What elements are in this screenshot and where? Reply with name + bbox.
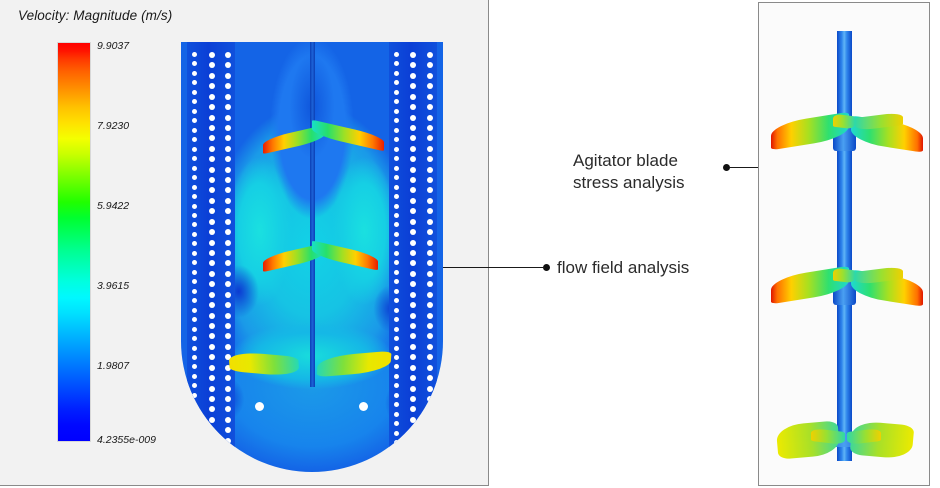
coil-dot (225, 344, 231, 350)
coil-dot (394, 194, 399, 199)
coil-dot (225, 438, 231, 444)
coil-dot (394, 440, 399, 445)
coil-dot (225, 333, 231, 339)
coil-dot (225, 177, 231, 183)
coil-dot (192, 128, 197, 133)
colorbar-tick-2: 5.9422 (97, 200, 129, 212)
coil-dot (427, 198, 433, 204)
coil-dot (394, 336, 399, 341)
coil-dot (427, 365, 433, 371)
coil-dot (394, 402, 399, 407)
coil-dot (394, 185, 399, 190)
coil-dot (225, 156, 231, 162)
agitator-shaft (310, 42, 315, 387)
coil-dot (192, 156, 197, 161)
coil-dot (192, 260, 197, 265)
coil-dot (410, 125, 416, 131)
coil-dot (394, 431, 399, 436)
coil-dot (192, 185, 197, 190)
coil-dot (410, 94, 416, 100)
coil-dot-column-left-3 (224, 52, 231, 465)
coil-dot (209, 406, 215, 412)
coil-dot (427, 417, 433, 423)
coil-dot (209, 177, 215, 183)
coil-dot (410, 104, 416, 110)
coil-dot (209, 396, 215, 402)
stress-model-panel (758, 2, 930, 486)
coil-dot (192, 109, 197, 114)
coil-dot (427, 333, 433, 339)
coil-dot (427, 187, 433, 193)
coil-dot (394, 450, 399, 455)
coil-dot (209, 333, 215, 339)
coil-dot (209, 417, 215, 423)
coil-dot (410, 177, 416, 183)
tank-body (181, 42, 443, 472)
coil-dot (225, 396, 231, 402)
coil-dot (192, 137, 197, 142)
coil-dot (225, 198, 231, 204)
coil-dot-column-right-1 (426, 52, 433, 465)
coil-dot (427, 458, 433, 464)
coil-dot (209, 281, 215, 287)
coil-dot (192, 222, 197, 227)
coil-dot (427, 208, 433, 214)
coil-dot (394, 393, 399, 398)
nozzle-left (255, 402, 264, 411)
coil-dot (410, 229, 416, 235)
coil-dot (225, 167, 231, 173)
coil-dot (394, 251, 399, 256)
colorbar-tick-4: 1.9807 (97, 360, 129, 372)
coil-dot (192, 175, 197, 180)
coil-dot (209, 344, 215, 350)
coil-dot (394, 289, 399, 294)
coil-dot (192, 71, 197, 76)
coil-dot (394, 308, 399, 313)
coil-dot (192, 270, 197, 275)
coil-dot (410, 417, 416, 423)
colorbar-tick-1: 7.9230 (97, 120, 129, 132)
coil-dot (394, 80, 399, 85)
coil-dot (225, 187, 231, 193)
coil-dot-column-right-2 (409, 52, 416, 465)
coil-dot (427, 52, 433, 58)
coil-dot (410, 83, 416, 89)
coil-dot (427, 323, 433, 329)
coil-dot (394, 241, 399, 246)
coil-dot (209, 229, 215, 235)
coil-dot (209, 448, 215, 454)
coil-dot (410, 281, 416, 287)
coil-dot (410, 208, 416, 214)
coil-dot (394, 260, 399, 265)
coil-dot (410, 438, 416, 444)
coil-dot (192, 204, 197, 209)
coil-dot (225, 313, 231, 319)
coil-dot (427, 344, 433, 350)
coil-dot (394, 270, 399, 275)
coil-dot (427, 281, 433, 287)
coil-dot (394, 52, 399, 57)
colorbar-gradient (57, 42, 91, 442)
coil-dot (209, 187, 215, 193)
coil-dot (410, 396, 416, 402)
velocity-colorbar: 9.9037 7.9230 5.9422 3.9615 1.9807 4.235… (57, 42, 91, 442)
coil-dot (394, 374, 399, 379)
coil-dot (209, 115, 215, 121)
coil-dot (427, 271, 433, 277)
coil-dot (209, 354, 215, 360)
coil-dot (192, 317, 197, 322)
coil-dot (410, 458, 416, 464)
coil-dot (209, 83, 215, 89)
coil-dot (225, 260, 231, 266)
coil-dot (427, 375, 433, 381)
cfd-panel-title: Velocity: Magnitude (m/s) (18, 8, 172, 23)
coil-dot (225, 104, 231, 110)
coil-dot (427, 302, 433, 308)
coil-dot (209, 198, 215, 204)
coil-dot (427, 83, 433, 89)
coil-dot (427, 125, 433, 131)
coil-dot (192, 147, 197, 152)
coil-dot (192, 431, 197, 436)
coil-dot (410, 344, 416, 350)
coil-dot (209, 365, 215, 371)
coil-dot (225, 83, 231, 89)
coil-dot (410, 375, 416, 381)
coil-dot (225, 115, 231, 121)
coil-dot (410, 260, 416, 266)
coil-dot (209, 104, 215, 110)
coil-dot (394, 298, 399, 303)
coil-dot (410, 302, 416, 308)
coil-dot (410, 271, 416, 277)
coil-dot (427, 167, 433, 173)
coil-dot (394, 137, 399, 142)
tank-cross-section (181, 42, 443, 472)
coil-dot-column-right-3 (393, 52, 400, 465)
coil-dot (209, 292, 215, 298)
coil-dot (209, 375, 215, 381)
coil-dot (209, 427, 215, 433)
coil-dot (394, 355, 399, 360)
cfd-result-panel: Velocity: Magnitude (m/s) 9.9037 7.9230 … (0, 0, 489, 486)
coil-dot (427, 135, 433, 141)
coil-dot (192, 279, 197, 284)
coil-dot (225, 135, 231, 141)
coil-dot (394, 317, 399, 322)
coil-dot (209, 219, 215, 225)
coil-dot (225, 146, 231, 152)
coil-dot (192, 355, 197, 360)
coil-dot (192, 336, 197, 341)
coil-dot (209, 386, 215, 392)
coil-dot (394, 71, 399, 76)
coil-dot (225, 386, 231, 392)
coil-dot (225, 448, 231, 454)
model-shaft (837, 31, 852, 461)
coil-dot-column-left-1 (191, 52, 198, 465)
coil-dot (410, 219, 416, 225)
coil-dot (192, 308, 197, 313)
coil-dot (394, 147, 399, 152)
coil-dot (427, 448, 433, 454)
coil-dot (410, 406, 416, 412)
coil-dot (427, 104, 433, 110)
coil-dot (427, 386, 433, 392)
coil-dot (427, 177, 433, 183)
coil-dot (192, 289, 197, 294)
coil-dot (410, 448, 416, 454)
annotation-stress-label: Agitator blade stress analysis (573, 150, 684, 195)
coil-dot (192, 90, 197, 95)
coil-dot-column-left-2 (208, 52, 215, 465)
coil-dot (225, 323, 231, 329)
model-blade-middle-back-left (833, 268, 855, 284)
coil-dot (410, 146, 416, 152)
coil-dot (427, 62, 433, 68)
coil-dot (427, 156, 433, 162)
coil-dot (427, 427, 433, 433)
coil-dot (192, 393, 197, 398)
coil-dot (192, 251, 197, 256)
coil-dot (394, 128, 399, 133)
coil-dot (394, 204, 399, 209)
annotation-flow-leader (443, 267, 545, 268)
coil-dot (410, 73, 416, 79)
coil-dot (209, 271, 215, 277)
coil-dot (209, 62, 215, 68)
coil-dot (427, 73, 433, 79)
coil-dot (410, 323, 416, 329)
coil-dot (225, 250, 231, 256)
coil-dot (410, 427, 416, 433)
coil-dot (394, 166, 399, 171)
coil-dot (225, 52, 231, 58)
coil-dot (394, 99, 399, 104)
coil-dot (209, 302, 215, 308)
coil-dot (192, 232, 197, 237)
coil-dot (192, 450, 197, 455)
coil-dot (209, 260, 215, 266)
coil-dot (410, 135, 416, 141)
coil-dot (192, 52, 197, 57)
coil-dot (192, 346, 197, 351)
coil-dot (192, 459, 197, 464)
coil-dot (394, 232, 399, 237)
coil-dot (427, 240, 433, 246)
coil-dot (427, 115, 433, 121)
coil-dot (394, 346, 399, 351)
coil-dot (225, 62, 231, 68)
coil-dot (225, 417, 231, 423)
coil-dot (192, 80, 197, 85)
colorbar-tick-0: 9.9037 (97, 40, 129, 52)
coil-dot (394, 213, 399, 218)
coil-dot (192, 194, 197, 199)
coil-dot (427, 406, 433, 412)
coil-dot (209, 240, 215, 246)
coil-dot (225, 73, 231, 79)
coil-dot (394, 61, 399, 66)
coil-dot (427, 146, 433, 152)
coil-dot (225, 292, 231, 298)
coil-dot (410, 187, 416, 193)
coil-dot (209, 438, 215, 444)
coil-dot (225, 125, 231, 131)
coil-dot (225, 375, 231, 381)
coil-dot (192, 374, 197, 379)
coil-dot (209, 52, 215, 58)
coil-dot (225, 281, 231, 287)
coil-dot (192, 99, 197, 104)
colorbar-tick-5: 4.2355e-009 (97, 434, 156, 446)
coil-dot (209, 250, 215, 256)
coil-dot (394, 222, 399, 227)
coil-dot (225, 208, 231, 214)
coil-dot (410, 333, 416, 339)
coil-dot (427, 250, 433, 256)
coil-dot (410, 198, 416, 204)
coil-dot (394, 412, 399, 417)
coil-dot (209, 313, 215, 319)
coil-dot (394, 459, 399, 464)
coil-dot (225, 427, 231, 433)
coil-dot (192, 118, 197, 123)
agitator-3d-model (759, 3, 929, 485)
coil-dot (225, 271, 231, 277)
coil-dot (427, 438, 433, 444)
coil-dot (225, 240, 231, 246)
coil-dot (410, 167, 416, 173)
coil-dot (410, 240, 416, 246)
coil-dot (192, 327, 197, 332)
coil-dot (394, 279, 399, 284)
coil-dot (394, 383, 399, 388)
coil-dot (394, 109, 399, 114)
coil-dot (192, 383, 197, 388)
coil-dot (394, 90, 399, 95)
annotation-flow-label: flow field analysis (557, 257, 689, 279)
coil-dot (192, 402, 197, 407)
coil-dot (394, 364, 399, 369)
coil-dot (209, 146, 215, 152)
coil-dot (427, 292, 433, 298)
coil-dot (410, 313, 416, 319)
coil-dot (225, 406, 231, 412)
coil-dot (192, 421, 197, 426)
coil-dot (225, 219, 231, 225)
coil-dot (427, 313, 433, 319)
coil-dot (209, 94, 215, 100)
model-blade-upper-back-left (833, 114, 855, 130)
coil-dot (192, 412, 197, 417)
coil-dot (209, 156, 215, 162)
coil-dot (427, 219, 433, 225)
coil-dot (209, 458, 215, 464)
coil-dot (394, 175, 399, 180)
coil-dot (192, 213, 197, 218)
coil-dot (192, 166, 197, 171)
colorbar-tick-3: 3.9615 (97, 280, 129, 292)
coil-dot (209, 167, 215, 173)
coil-dot (427, 260, 433, 266)
nozzle-right (359, 402, 368, 411)
coil-dot (192, 61, 197, 66)
coil-dot (209, 73, 215, 79)
coil-dot (209, 125, 215, 131)
coil-dot (394, 327, 399, 332)
coil-dot (427, 354, 433, 360)
coil-dot (394, 118, 399, 123)
coil-dot (410, 354, 416, 360)
coil-dot (209, 323, 215, 329)
coil-dot (225, 229, 231, 235)
coil-dot (192, 241, 197, 246)
coil-dot (410, 115, 416, 121)
coil-dot (410, 156, 416, 162)
coil-dot (192, 364, 197, 369)
coil-dot (427, 229, 433, 235)
coil-dot (410, 292, 416, 298)
coil-dot (225, 458, 231, 464)
coil-dot (410, 62, 416, 68)
coil-dot (410, 386, 416, 392)
coil-dot (427, 396, 433, 402)
coil-dot (427, 94, 433, 100)
coil-dot (225, 94, 231, 100)
coil-dot (225, 302, 231, 308)
coil-dot (209, 208, 215, 214)
coil-dot (192, 298, 197, 303)
coil-dot (209, 135, 215, 141)
coil-dot (410, 365, 416, 371)
coil-dot (410, 52, 416, 58)
coil-dot (394, 421, 399, 426)
coil-dot (410, 250, 416, 256)
coil-dot (394, 156, 399, 161)
coil-dot (192, 440, 197, 445)
